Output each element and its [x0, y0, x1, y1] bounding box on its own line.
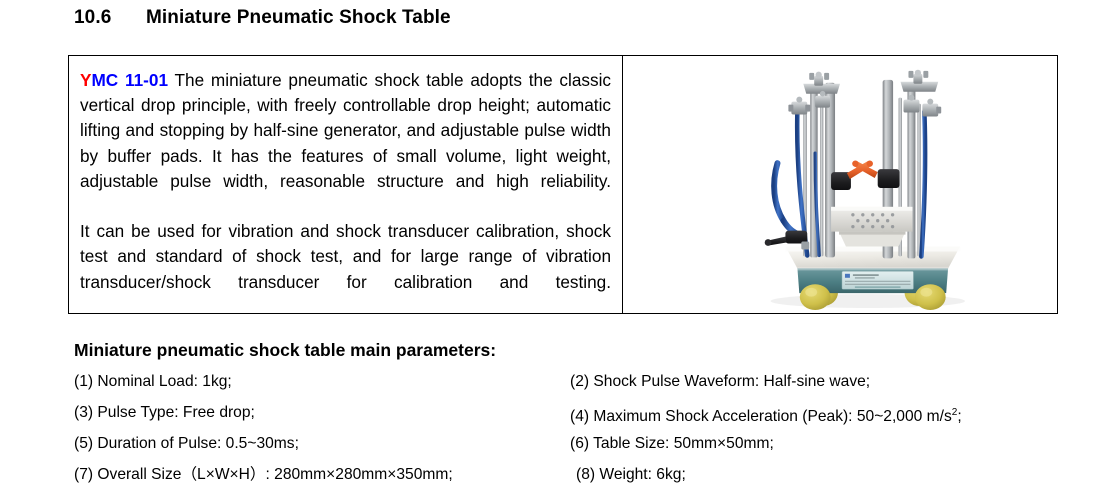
parameter-item-8: (8) Weight: 6kg; [570, 465, 1084, 485]
product-photo [623, 56, 1057, 313]
page-title: 10.6Miniature Pneumatic Shock Table [74, 7, 451, 29]
product-info-box: YMC 11-01 The miniature pneumatic shock … [68, 55, 1058, 314]
parameter-item-4: (4) Maximum Shock Acceleration (Peak): 5… [570, 403, 1084, 427]
shock-table-illustration [623, 56, 1057, 313]
parameters-title: Miniature pneumatic shock table main par… [74, 340, 496, 361]
parameter-row: (1) Nominal Load: 1kg; (2) Shock Pulse W… [74, 372, 1084, 403]
product-description-text: YMC 11-01 The miniature pneumatic shock … [80, 68, 611, 320]
description-paragraph-1: YMC 11-01 The miniature pneumatic shock … [80, 68, 611, 219]
model-code-rest: MC 11-01 [91, 70, 168, 90]
section-title: Miniature Pneumatic Shock Table [146, 7, 451, 28]
parameter-row: (7) Overall Size（L×W×H）: 280mm×280mm×350… [74, 465, 1084, 496]
parameter-item-1: (1) Nominal Load: 1kg; [74, 372, 570, 392]
model-code-prefix: Y [80, 70, 91, 90]
parameters-grid: (1) Nominal Load: 1kg; (2) Shock Pulse W… [74, 372, 1084, 496]
parameter-item-3: (3) Pulse Type: Free drop; [74, 403, 570, 423]
section-number: 10.6 [74, 7, 146, 29]
parameter-item-4-suffix: ; [957, 408, 961, 425]
parameter-item-4-text: (4) Maximum Shock Acceleration (Peak): 5… [570, 408, 952, 425]
parameter-row: (5) Duration of Pulse: 0.5~30ms; (6) Tab… [74, 434, 1084, 465]
description-paragraph-2: It can be used for vibration and shock t… [80, 219, 611, 320]
parameter-item-5: (5) Duration of Pulse: 0.5~30ms; [74, 434, 570, 454]
product-image-panel [623, 56, 1057, 313]
parameter-item-7: (7) Overall Size（L×W×H）: 280mm×280mm×350… [74, 465, 570, 485]
parameter-row: (3) Pulse Type: Free drop; (4) Maximum S… [74, 403, 1084, 434]
parameter-item-6: (6) Table Size: 50mm×50mm; [570, 434, 1084, 454]
product-description-panel: YMC 11-01 The miniature pneumatic shock … [69, 56, 623, 313]
parameter-item-2: (2) Shock Pulse Waveform: Half-sine wave… [570, 372, 1084, 392]
